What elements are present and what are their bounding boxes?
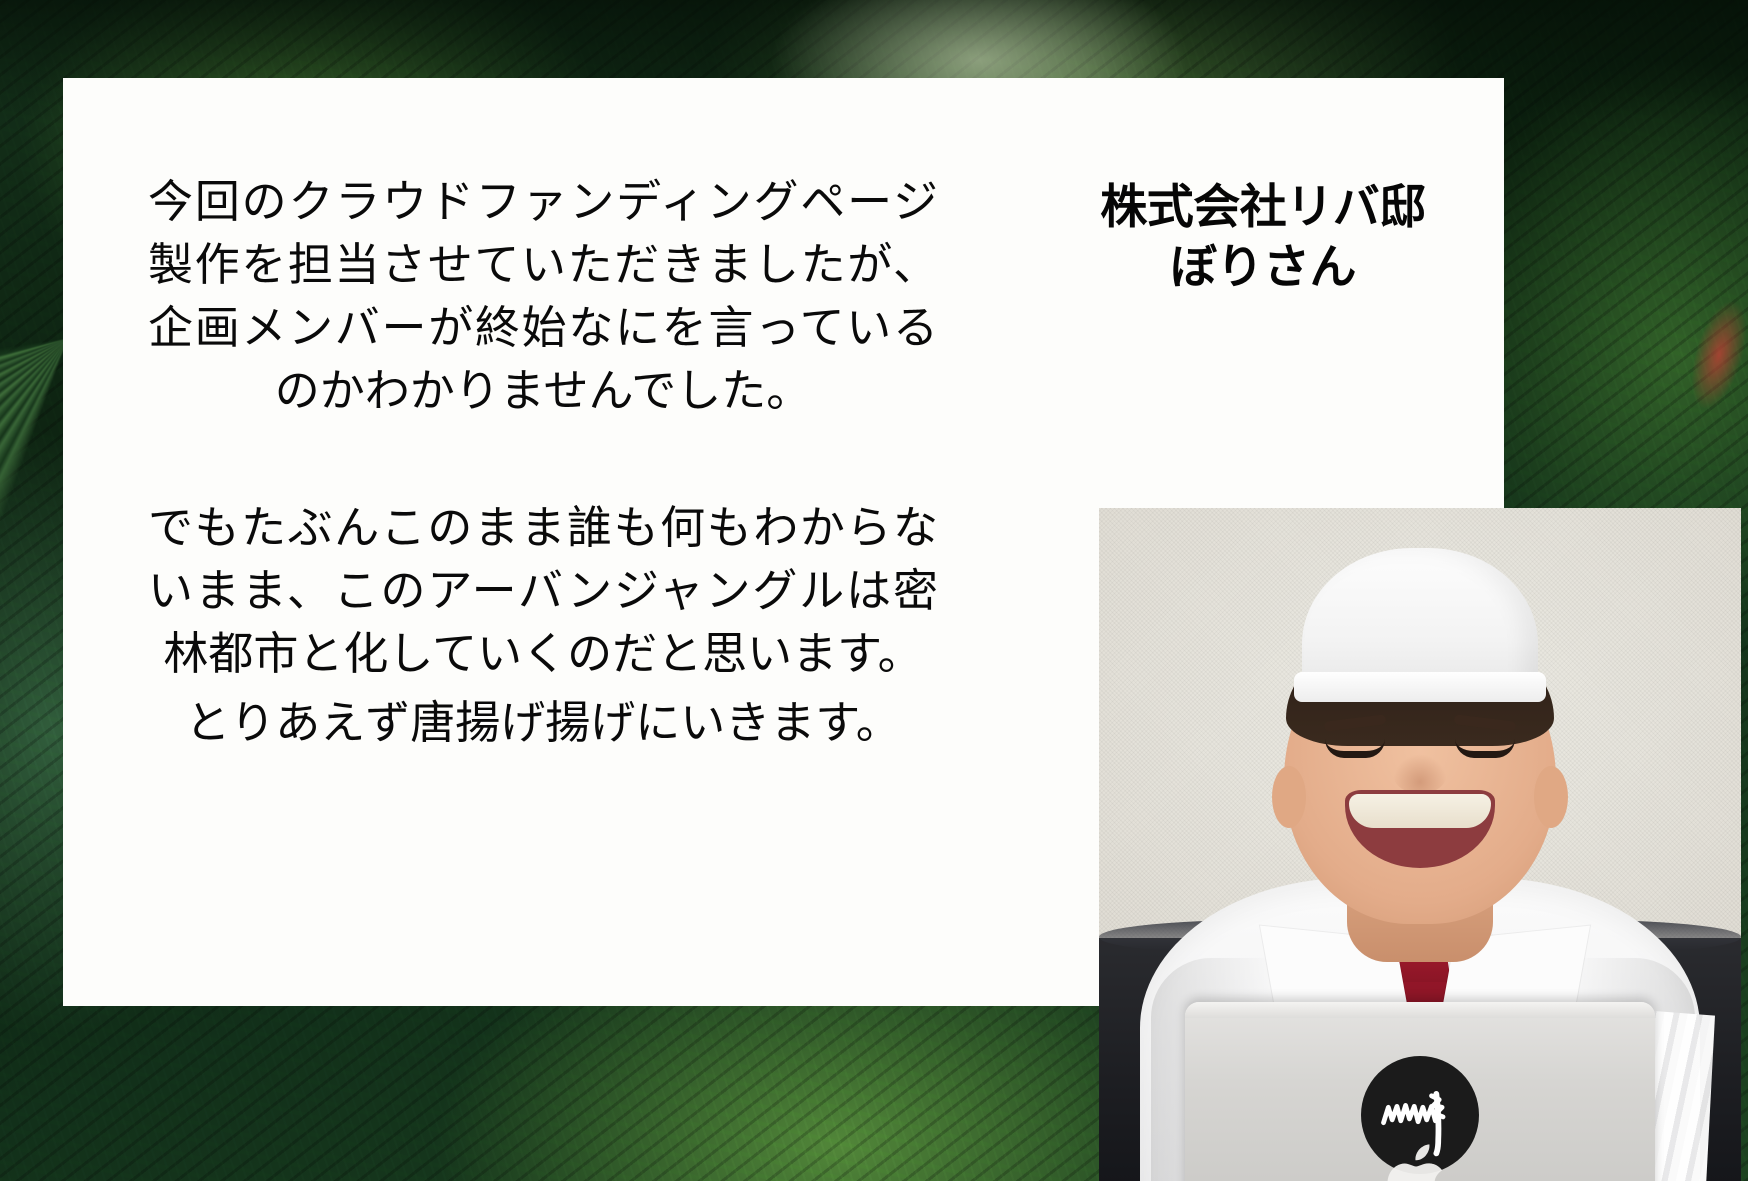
content-card: 今回のクラウドファンディングページ製作を担当させていただきましたが、企画メンバー… [63, 78, 1504, 1006]
chef-eye-right [1455, 739, 1515, 758]
chef-nose [1393, 754, 1447, 794]
attribution-company: 株式会社リバ邸 [1023, 178, 1503, 238]
testimonial-paragraph-2: でもたぶんこのまま誰も何もわからないまま、このアーバンジャングルは密林都市と化し… [148, 496, 938, 685]
slide-canvas: 今回のクラウドファンディングページ製作を担当させていただきましたが、企画メンバー… [0, 0, 1748, 1181]
attribution-block: 株式会社リバ邸 ぼりさん [1023, 178, 1503, 298]
chef-hat-band [1294, 672, 1546, 702]
laptop [1185, 1002, 1655, 1181]
laptop-lid-edge [1185, 1002, 1655, 1018]
chef-eye-left [1325, 739, 1385, 758]
chef-teeth [1349, 794, 1491, 828]
chef-ear-left [1272, 766, 1306, 828]
testimonial-paragraph-3: とりあえず唐揚げ揚げにいきます。 [148, 691, 938, 754]
attribution-person: ぼりさん [1023, 238, 1503, 298]
chef-ear-right [1534, 766, 1568, 828]
apple-logo-icon [1383, 1138, 1457, 1181]
testimonial-paragraph-1: 今回のクラウドファンディングページ製作を担当させていただきましたが、企画メンバー… [148, 170, 938, 422]
testimonial-text-block: 今回のクラウドファンディングページ製作を担当させていただきましたが、企画メンバー… [148, 170, 938, 754]
portrait-photo [1099, 508, 1741, 1181]
